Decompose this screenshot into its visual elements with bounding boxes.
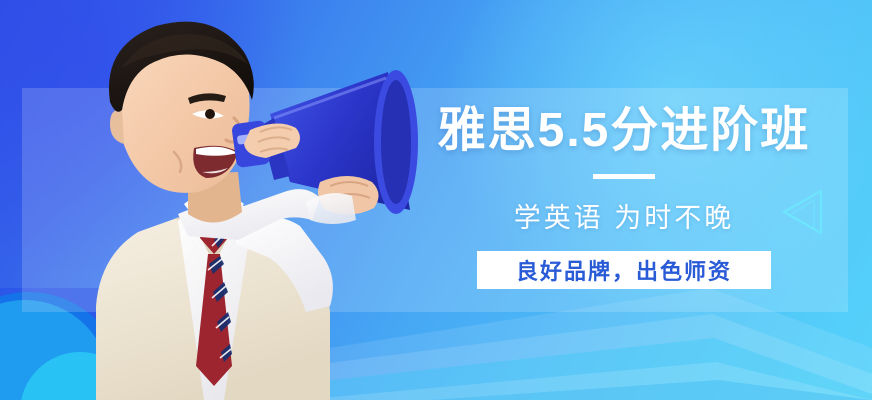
course-promo-banner: 雅思5.5分进阶班 学英语 为时不晚 良好品牌，出色师资: [0, 0, 872, 400]
head: [109, 22, 254, 193]
banner-title: 雅思5.5分进阶班: [404, 104, 844, 158]
copy-block: 雅思5.5分进阶班 学英语 为时不晚 良好品牌，出色师资: [404, 104, 844, 289]
tagline-text: 良好品牌，出色师资: [516, 254, 732, 286]
tagline-box: 良好品牌，出色师资: [477, 251, 771, 289]
banner-subtitle: 学英语 为时不晚: [404, 196, 844, 235]
person-with-megaphone-illustration: [38, 6, 418, 400]
title-divider: [593, 174, 655, 179]
megaphone: [231, 70, 418, 215]
